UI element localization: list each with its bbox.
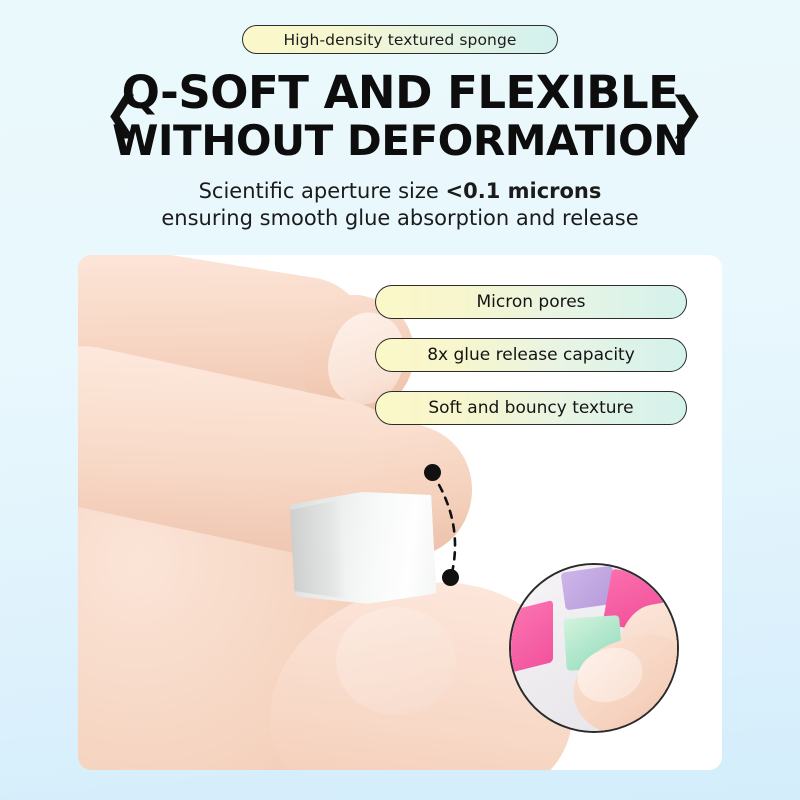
feature-pill-label: Soft and bouncy texture xyxy=(428,398,633,418)
headline-line-1: Q-SOFT AND FLEXIBLE xyxy=(0,70,800,116)
flex-indicator-arc xyxy=(410,455,480,605)
subtitle: Scientific aperture size <0.1 microns en… xyxy=(0,178,800,232)
subtitle-line-1: Scientific aperture size <0.1 microns xyxy=(0,178,800,205)
sponge-shadow xyxy=(287,497,346,604)
thumb-nail xyxy=(336,607,456,715)
subtitle-line-2: ensuring smooth glue absorption and rele… xyxy=(0,205,800,232)
feature-pill-label: 8x glue release capacity xyxy=(427,345,635,365)
subtitle-prefix: Scientific aperture size xyxy=(199,179,446,203)
feature-pill-micron-pores: Micron pores xyxy=(375,285,687,319)
feature-pill-soft-bouncy: Soft and bouncy texture xyxy=(375,391,687,425)
headline: Q-SOFT AND FLEXIBLE WITHOUT DEFORMATION xyxy=(0,70,800,163)
flex-dot-bottom xyxy=(442,569,459,586)
flex-dot-top xyxy=(424,464,441,481)
feature-pill-glue-release: 8x glue release capacity xyxy=(375,338,687,372)
product-feature-page: High-density textured sponge ❮ ❯ Q-SOFT … xyxy=(0,0,800,800)
top-badge-label: High-density textured sponge xyxy=(283,31,516,49)
top-badge: High-density textured sponge xyxy=(242,25,558,54)
feature-pill-list: Micron pores 8x glue release capacity So… xyxy=(375,285,687,444)
feature-pill-label: Micron pores xyxy=(476,292,585,312)
headline-line-2: WITHOUT DEFORMATION xyxy=(0,120,800,163)
detail-circle-inset xyxy=(509,563,679,733)
subtitle-highlight: <0.1 microns xyxy=(446,179,602,203)
